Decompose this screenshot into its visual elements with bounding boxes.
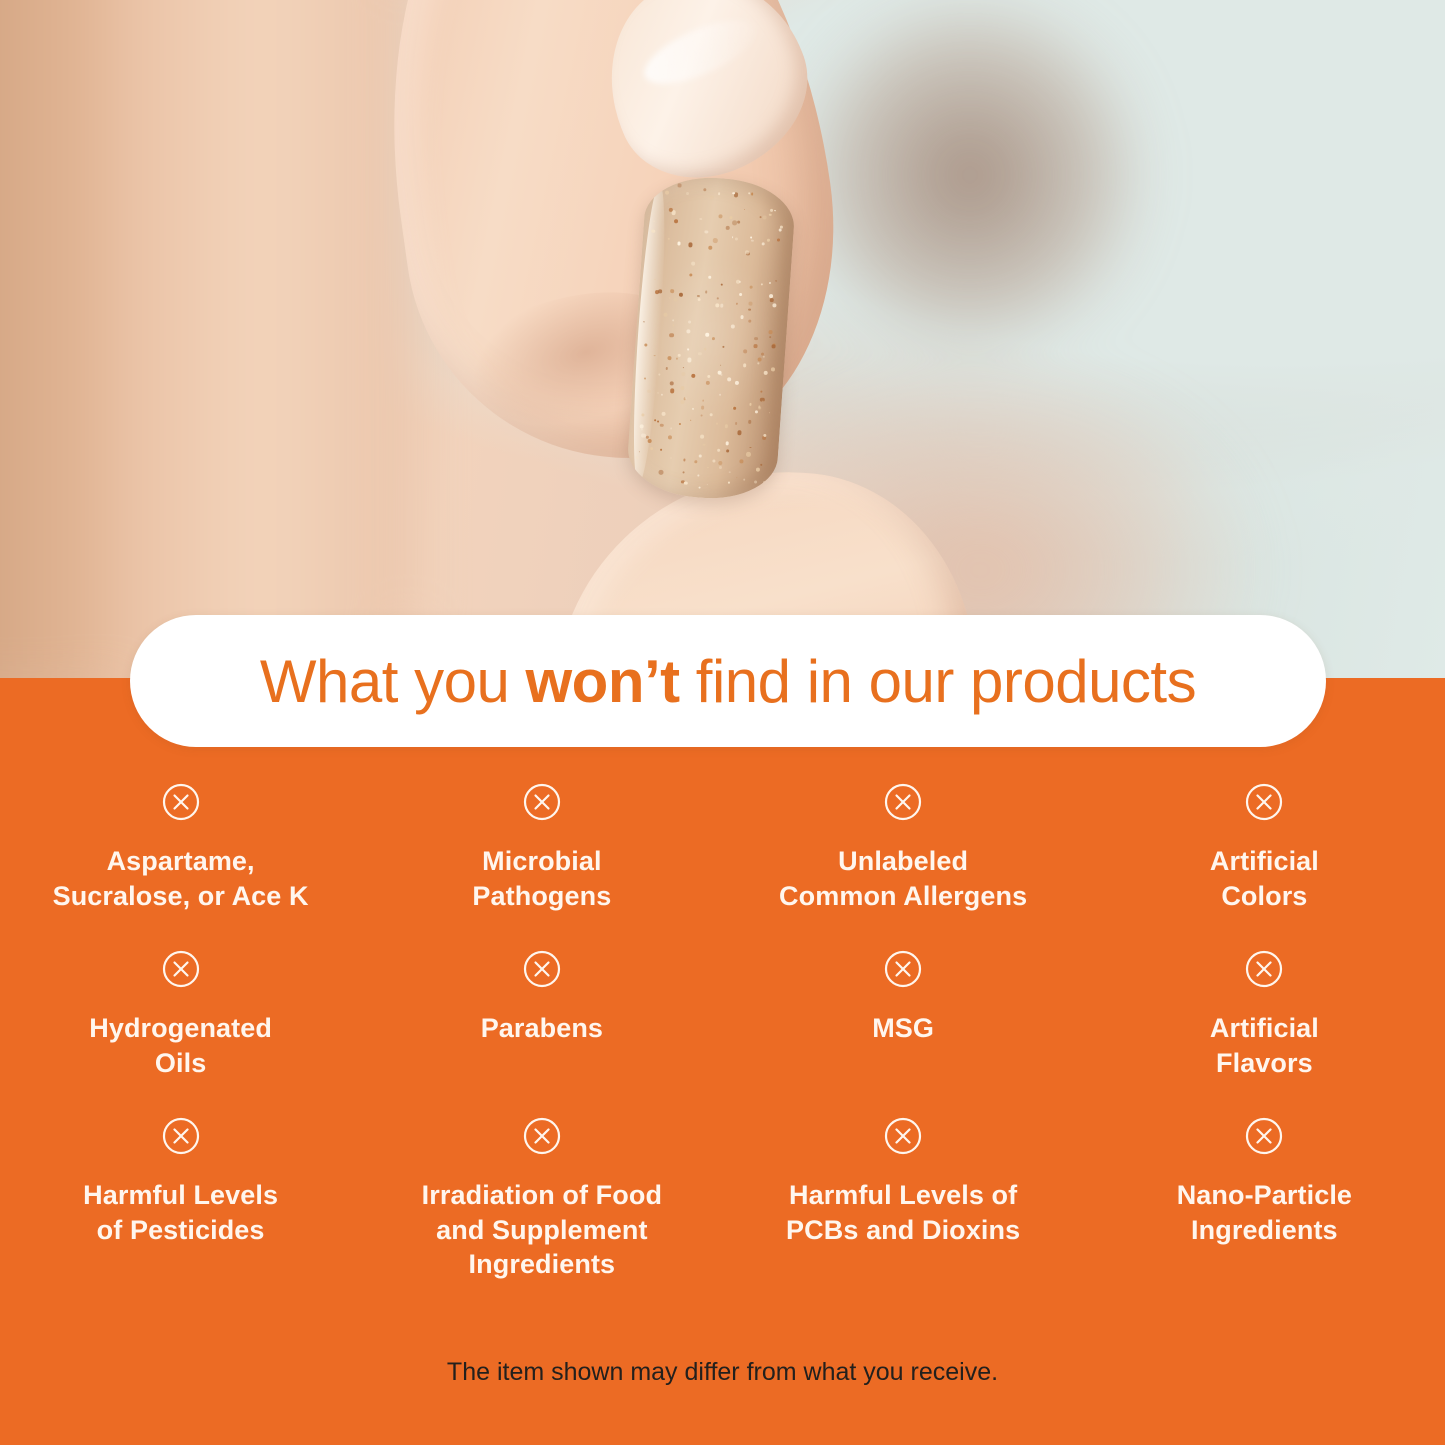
tablet-speck (761, 243, 764, 246)
tablet-speck (717, 448, 721, 452)
tablet-speck (728, 482, 729, 483)
circle-x-icon (161, 782, 201, 822)
tablet-speck (707, 375, 710, 378)
tablet-speck (683, 459, 686, 462)
tablet-speck (669, 333, 674, 338)
tablet-speck (739, 459, 744, 464)
tablet-speck (657, 420, 659, 422)
tablet-speck (703, 443, 706, 446)
tablet-speck (672, 325, 674, 327)
tablet-speck (690, 273, 693, 276)
tablet-speck (724, 424, 728, 428)
tablet-speck (749, 285, 753, 289)
tablet-speck (680, 386, 685, 391)
tablet-speck (641, 428, 643, 430)
tablet-speck (659, 470, 664, 475)
exclusion-item-hydrogenated-oils: HydrogenatedOils (0, 949, 361, 1116)
tablet-speck (652, 229, 656, 233)
tablet-speck (750, 447, 752, 449)
tablet-speck (650, 447, 653, 450)
tablet-speck (754, 344, 758, 348)
tablet-speck (708, 245, 713, 250)
tablet-speck (748, 302, 752, 306)
tablet-speck (661, 394, 663, 396)
tablet-speck (710, 413, 713, 416)
exclusion-item-label: ArtificialFlavors (1210, 1011, 1319, 1080)
tablet-speck (701, 406, 705, 410)
tablet-speck (769, 213, 772, 216)
circle-x-icon (883, 949, 923, 989)
tablet-speck (754, 337, 758, 341)
exclusion-item-label: UnlabeledCommon Allergens (779, 844, 1027, 913)
tablet-speck (736, 303, 737, 304)
tablet-speck (774, 210, 776, 212)
tablet-speck (683, 472, 685, 474)
tablet-speck (712, 459, 716, 463)
tablet-speck (751, 193, 754, 196)
tablet-speck (763, 216, 767, 220)
tablet-speck (672, 319, 674, 321)
page-title: What you won’t find in our products (260, 647, 1196, 716)
tablet-speck (749, 403, 752, 406)
exclusion-item-label: ArtificialColors (1210, 844, 1319, 913)
tablet-speck (677, 241, 681, 245)
tablet-speck (697, 298, 701, 302)
tablet-speck (750, 236, 752, 238)
tablet-speck (754, 410, 757, 413)
tablet-speck (771, 368, 775, 372)
tablet-speck (677, 358, 678, 359)
title-part-2: find in our products (680, 648, 1196, 715)
tablet-speck (761, 490, 765, 494)
exclusion-item-label: Irradiation of Foodand SupplementIngredi… (422, 1178, 662, 1282)
circle-x-icon (522, 949, 562, 989)
circle-x-icon (161, 949, 201, 989)
tablet-speck (688, 320, 691, 323)
tablet-speck (761, 352, 764, 355)
tablet-speck (678, 354, 681, 357)
tablet-speck (654, 419, 656, 421)
exclusion-item-nano-particle-ingredients: Nano-ParticleIngredients (1084, 1116, 1445, 1283)
tablet-speck (775, 280, 777, 282)
tablet-speck (686, 192, 689, 195)
tablet-speck (663, 312, 668, 317)
tablet-speck (764, 370, 769, 375)
tablet-speck (737, 430, 742, 435)
tablet-speck (705, 291, 708, 294)
tablet-speck (769, 282, 771, 284)
tablet-speck (732, 237, 733, 238)
tablet-speck (739, 292, 743, 296)
tablet-speck (725, 441, 729, 445)
tablet-speck (697, 294, 700, 297)
tablet-speck (744, 209, 745, 210)
tablet-speck (746, 452, 751, 457)
tablet-speck (679, 423, 681, 425)
tablet-speck (667, 435, 672, 440)
circle-x-icon (883, 782, 923, 822)
tablet-speck (740, 315, 744, 319)
tablet-speck (743, 479, 745, 481)
tablet-speck (762, 400, 764, 402)
tablet-speck (659, 373, 661, 375)
tablet-speck (732, 220, 737, 225)
tablet-speck (641, 433, 645, 437)
tablet-speck (720, 284, 722, 286)
tablet-speck (709, 196, 713, 200)
tablet-speck (735, 238, 738, 241)
exclusion-item-label: HydrogenatedOils (89, 1011, 272, 1080)
tablet-speck (697, 475, 699, 477)
circle-x-icon (1244, 1116, 1284, 1156)
tablet-speck (687, 329, 691, 333)
tablet-speck (653, 221, 654, 222)
tablet-speck (748, 308, 751, 311)
exclusion-item-label: Parabens (481, 1011, 603, 1046)
tablet-speck (688, 242, 693, 247)
exclusion-item-irradiation-of-food-and-supplement-ingredients: Irradiation of Foodand SupplementIngredi… (361, 1116, 722, 1283)
tablet-speck (763, 356, 765, 358)
tablet-speck (694, 460, 697, 463)
tablet-speck (772, 303, 776, 307)
circle-x-icon (1244, 949, 1284, 989)
background-finger (110, 0, 410, 690)
tablet-speck (716, 423, 718, 425)
tablet-speck (729, 471, 730, 472)
exclusion-item-label: MicrobialPathogens (472, 844, 611, 913)
tablet-speck (647, 390, 650, 393)
exclusion-item-harmful-levels-of-pcbs-and-dioxins: Harmful Levels ofPCBs and Dioxins (723, 1116, 1084, 1283)
tablet-speck (743, 349, 747, 353)
circle-x-icon (522, 1116, 562, 1156)
tablet-speck (706, 484, 708, 486)
tablet-speck (769, 412, 770, 413)
tablet-speck (681, 372, 685, 376)
tablet-speck (708, 276, 711, 279)
tablet-speck (658, 289, 662, 293)
tablet-speck (737, 221, 740, 224)
tablet-speck (673, 297, 677, 301)
tablet-speck (692, 374, 696, 378)
circle-x-icon (522, 782, 562, 822)
tablet-speck (726, 450, 729, 453)
tablet-speck (703, 188, 706, 191)
tablet-speck (669, 381, 674, 386)
exclusion-item-label: MSG (872, 1011, 934, 1046)
product-info-graphic: What you won’t find in our products Aspa… (0, 0, 1445, 1445)
circle-x-icon (1244, 782, 1284, 822)
tablet-speck (769, 336, 771, 338)
tablet-speck (745, 250, 749, 254)
tablet-speck (771, 344, 775, 348)
hero-photo (0, 0, 1445, 690)
tablet-speck (719, 394, 721, 396)
exclusion-item-label: Harmful Levelsof Pesticides (83, 1178, 278, 1247)
tablet-speck (660, 449, 662, 451)
tablet-speck (769, 330, 773, 334)
exclusions-grid: Aspartame,Sucralose, or Ace KMicrobialPa… (0, 782, 1445, 1283)
tablet-speck (678, 293, 682, 297)
tablet-speck (748, 420, 752, 424)
tablet-speck (699, 455, 702, 458)
tablet-speck (700, 414, 702, 416)
tablet-speck (638, 480, 640, 482)
tablet-speck (757, 362, 759, 364)
tablet-speck (678, 184, 681, 187)
tablet-speck (670, 428, 672, 430)
tablet-speck (657, 392, 659, 394)
tablet-speck (634, 472, 637, 475)
tablet-speck (758, 357, 762, 361)
tablet-speck (770, 298, 774, 302)
exclusion-item-aspartame-sucralose-ace-k: Aspartame,Sucralose, or Ace K (0, 782, 361, 949)
tablet-speck (691, 261, 696, 266)
tablet-speck (732, 192, 734, 194)
tablet-speck (761, 284, 763, 286)
tablet-speck (670, 388, 675, 393)
tablet-speck (641, 414, 644, 417)
tablet-speck (762, 483, 765, 486)
tablet-speck (739, 281, 741, 283)
tablet-speck (730, 324, 734, 328)
tablet-speck (674, 219, 678, 223)
tablet-speck (718, 214, 722, 218)
circle-x-icon (161, 1116, 201, 1156)
tablet-speck (743, 363, 747, 367)
exclusion-item-label: Aspartame,Sucralose, or Ace K (53, 844, 309, 913)
tablet-speck (684, 481, 688, 485)
tablet-speck (699, 487, 701, 489)
exclusion-item-label: Nano-ParticleIngredients (1177, 1178, 1352, 1247)
tablet-speck (727, 377, 731, 381)
tablet-speck (712, 337, 715, 340)
tablet-speck (777, 239, 780, 242)
tablet-speck (681, 400, 685, 404)
tablet-speck (670, 457, 672, 459)
tablet-speck (767, 239, 770, 242)
tablet-speck (690, 419, 691, 420)
tablet-speck (670, 289, 674, 293)
tablet-speck (668, 238, 670, 240)
tablet-speck (718, 192, 721, 195)
tablet-speck (713, 238, 717, 242)
tablet-speck (668, 297, 670, 299)
tablet-speck (705, 380, 710, 385)
tablet-speck (720, 365, 722, 367)
tablet-speck (660, 423, 664, 427)
exclusion-item-microbial-pathogens: MicrobialPathogens (361, 782, 722, 949)
title-pill: What you won’t find in our products (130, 615, 1326, 747)
tablet-speck (647, 439, 651, 443)
tablet-speck (717, 298, 719, 300)
tablet-speck (759, 216, 762, 219)
tablet-speck (754, 480, 758, 484)
circle-x-icon (883, 1116, 923, 1156)
tablet-speck (700, 435, 704, 439)
tablet-speck (723, 346, 725, 348)
tablet-speck (718, 461, 722, 465)
disclaimer: The item shown may differ from what you … (0, 1358, 1445, 1387)
tablet-speck (751, 239, 754, 242)
tablet-speck (733, 407, 736, 410)
tablet-speck (779, 228, 782, 231)
tablet-speck (704, 348, 707, 351)
tablet-speck (707, 467, 709, 469)
tablet-speck (720, 304, 724, 308)
exclusion-item-unlabeled-common-allergens: UnlabeledCommon Allergens (723, 782, 1084, 949)
tablet-speck (643, 321, 644, 322)
tablet-speck (763, 434, 766, 437)
supplement-tablet (625, 173, 797, 503)
tablet-speck (735, 422, 738, 425)
tablet-speck (723, 300, 725, 302)
exclusion-item-harmful-levels-of-pesticides: Harmful Levelsof Pesticides (0, 1116, 361, 1283)
tablet-speck (691, 408, 693, 410)
tablet-speck (715, 303, 719, 307)
tablet-speck (699, 218, 702, 221)
tablet-speck (705, 333, 709, 337)
tablet-speck (736, 477, 738, 479)
tablet-speck (735, 381, 739, 385)
tablet-speck (705, 230, 709, 234)
tablet-speck (760, 464, 762, 466)
title-part-1: What you (260, 648, 526, 715)
tablet-speck (683, 367, 684, 368)
tablet-speck (780, 226, 783, 229)
tablet-speck (687, 349, 688, 350)
tablet-speck (725, 226, 729, 230)
exclusion-item-msg: MSG (723, 949, 1084, 1116)
tablet-speck (770, 209, 774, 213)
tablet-speck (661, 412, 666, 417)
tablet-speck (694, 463, 696, 465)
tablet-speck (756, 468, 760, 472)
tablet-speck (698, 353, 701, 356)
tablet-speck (665, 190, 670, 195)
exclusion-item-parabens: Parabens (361, 949, 722, 1116)
tablet-speck (667, 356, 671, 360)
tablet-speck (730, 216, 733, 219)
tablet-speck (687, 358, 691, 362)
tablet-speck (748, 319, 751, 322)
tablet-speck (702, 400, 703, 401)
exclusion-item-artificial-flavors: ArtificialFlavors (1084, 949, 1445, 1116)
tablet-speck (665, 367, 668, 370)
exclusion-item-artificial-colors: ArtificialColors (1084, 782, 1445, 949)
title-emphasis: won’t (526, 648, 680, 715)
exclusion-item-label: Harmful Levels ofPCBs and Dioxins (786, 1178, 1020, 1247)
tablet-speck (761, 391, 763, 393)
tablet-speck (719, 465, 722, 468)
